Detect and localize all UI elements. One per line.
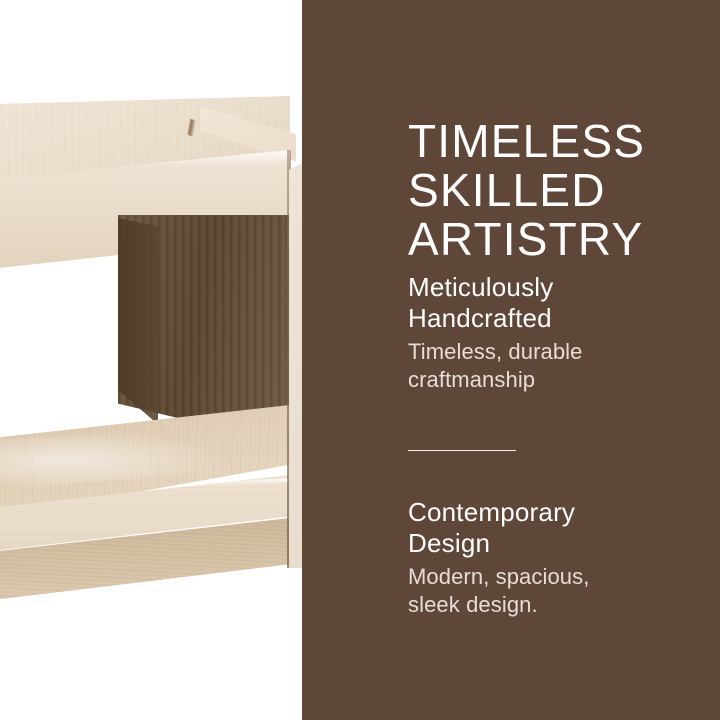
- feature-body: Modern, spacious, sleek design.: [408, 563, 708, 619]
- promo-graphic: TIMELESS SKILLED ARTISTRY Meticulously H…: [0, 0, 720, 720]
- product-photo-pane: [0, 0, 302, 720]
- feature-title: Contemporary Design: [408, 497, 708, 559]
- feature-title: Meticulously Handcrafted: [408, 272, 708, 334]
- feature-body: Timeless, durable craftmanship: [408, 338, 708, 394]
- wood-right-leg-panel: [289, 140, 302, 568]
- page-title: TIMELESS SKILLED ARTISTRY: [408, 117, 708, 264]
- feature-block-contemporary-design: Contemporary Design Modern, spacious, sl…: [408, 497, 708, 619]
- feature-block-meticulously-handcrafted: Meticulously Handcrafted Timeless, durab…: [408, 272, 708, 394]
- section-divider: [408, 450, 516, 451]
- copy-panel: TIMELESS SKILLED ARTISTRY Meticulously H…: [302, 0, 720, 720]
- nightstand-illustration: [0, 0, 302, 720]
